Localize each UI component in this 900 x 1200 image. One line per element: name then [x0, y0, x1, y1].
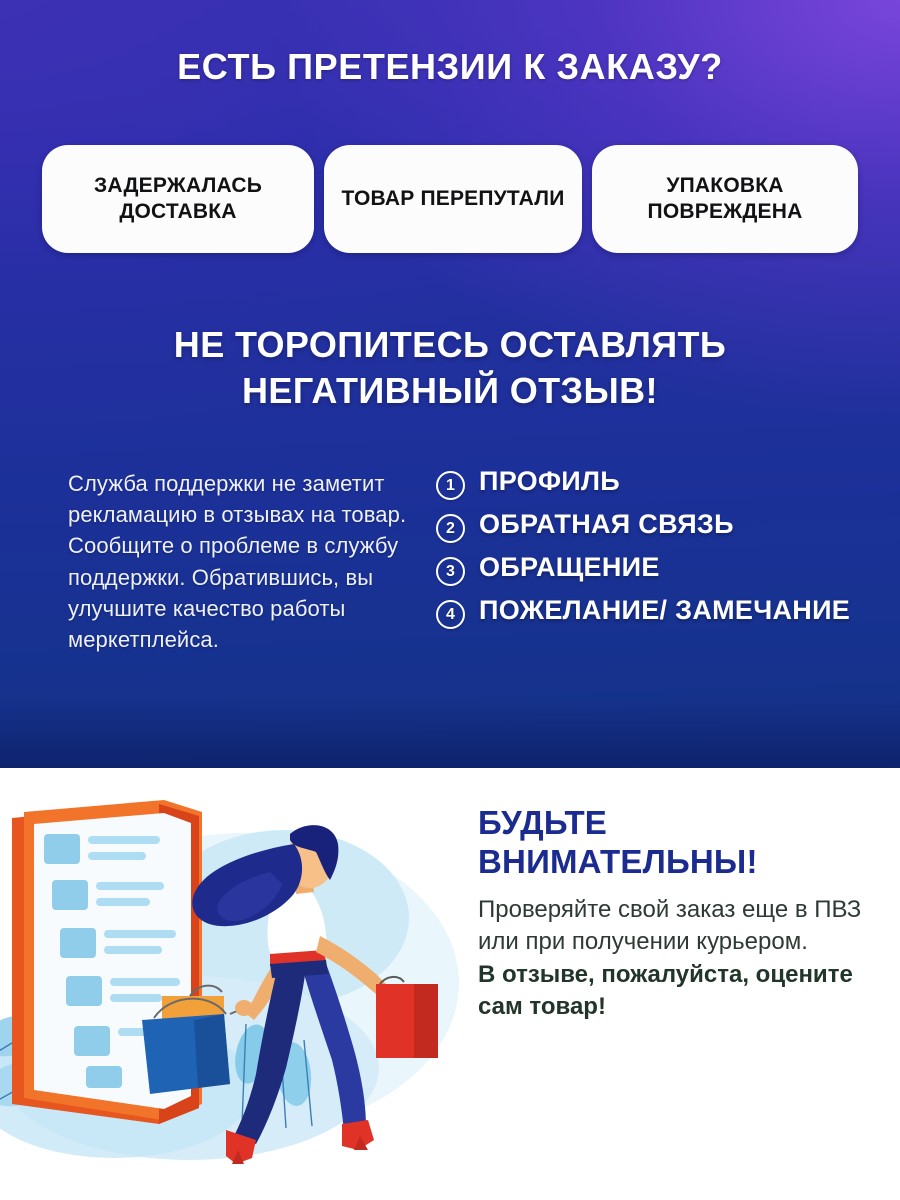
step-item-suggestion: 4 ПОЖЕЛАНИЕ/ ЗАМЕЧАНИЕ	[436, 595, 886, 629]
steps-list: 1 ПРОФИЛЬ 2 ОБРАТНАЯ СВЯЗЬ 3 ОБРАЩЕНИЕ 4…	[436, 466, 886, 638]
warning-headline: НЕ ТОРОПИТЕСЬ ОСТАВЛЯТЬ НЕГАТИВНЫЙ ОТЗЫВ…	[0, 322, 900, 414]
attention-body-text: Проверяйте свой заказ еще в ПВЗ или при …	[478, 894, 878, 957]
step-item-feedback: 2 ОБРАТНАЯ СВЯЗЬ	[436, 509, 886, 543]
warning-headline-line-2: НЕГАТИВНЫЙ ОТЗЫВ!	[0, 368, 900, 414]
attention-heading: БУДЬТЕ ВНИМАТЕЛЬНЫ!	[478, 804, 878, 882]
step-label-request: ОБРАЩЕНИЕ	[479, 552, 660, 584]
step-number-badge-1: 1	[436, 471, 465, 500]
attention-white-panel: БУДЬТЕ ВНИМАТЕЛЬНЫ! Проверяйте свой зака…	[0, 768, 900, 1200]
complaint-options-row: ЗАДЕРЖАЛАСЬ ДОСТАВКА ТОВАР ПЕРЕПУТАЛИ УП…	[42, 145, 858, 253]
attention-body-text-emphasis: В отзыве, пожалуйста, оцените сам товар!	[478, 959, 878, 1022]
step-label-suggestion: ПОЖЕЛАНИЕ/ ЗАМЕЧАНИЕ	[479, 595, 850, 627]
step-number-badge-4: 4	[436, 600, 465, 629]
step-item-profile: 1 ПРОФИЛЬ	[436, 466, 886, 500]
warning-body: Служба поддержки не заметит рекламацию в…	[0, 466, 900, 716]
attention-text-block: БУДЬТЕ ВНИМАТЕЛЬНЫ! Проверяйте свой зака…	[478, 804, 878, 1023]
hero-blue-panel: ЕСТЬ ПРЕТЕНЗИИ К ЗАКАЗУ? ЗАДЕРЖАЛАСЬ ДОС…	[0, 0, 900, 768]
complaint-option-wrong-item[interactable]: ТОВАР ПЕРЕПУТАЛИ	[324, 145, 582, 253]
complaint-option-delivery-delayed[interactable]: ЗАДЕРЖАЛАСЬ ДОСТАВКА	[42, 145, 314, 253]
step-number-badge-2: 2	[436, 514, 465, 543]
step-item-request: 3 ОБРАЩЕНИЕ	[436, 552, 886, 586]
shopping-illustration	[0, 768, 464, 1178]
page-title: ЕСТЬ ПРЕТЕНЗИИ К ЗАКАЗУ?	[0, 46, 900, 88]
complaint-option-damaged-packaging[interactable]: УПАКОВКА ПОВРЕЖДЕНА	[592, 145, 858, 253]
step-label-feedback: ОБРАТНАЯ СВЯЗЬ	[479, 509, 734, 541]
warning-headline-line-1: НЕ ТОРОПИТЕСЬ ОСТАВЛЯТЬ	[0, 322, 900, 368]
support-paragraph: Служба поддержки не заметит рекламацию в…	[68, 468, 408, 655]
step-number-badge-3: 3	[436, 557, 465, 586]
promo-poster: ЕСТЬ ПРЕТЕНЗИИ К ЗАКАЗУ? ЗАДЕРЖАЛАСЬ ДОС…	[0, 0, 900, 1200]
step-label-profile: ПРОФИЛЬ	[479, 466, 620, 498]
